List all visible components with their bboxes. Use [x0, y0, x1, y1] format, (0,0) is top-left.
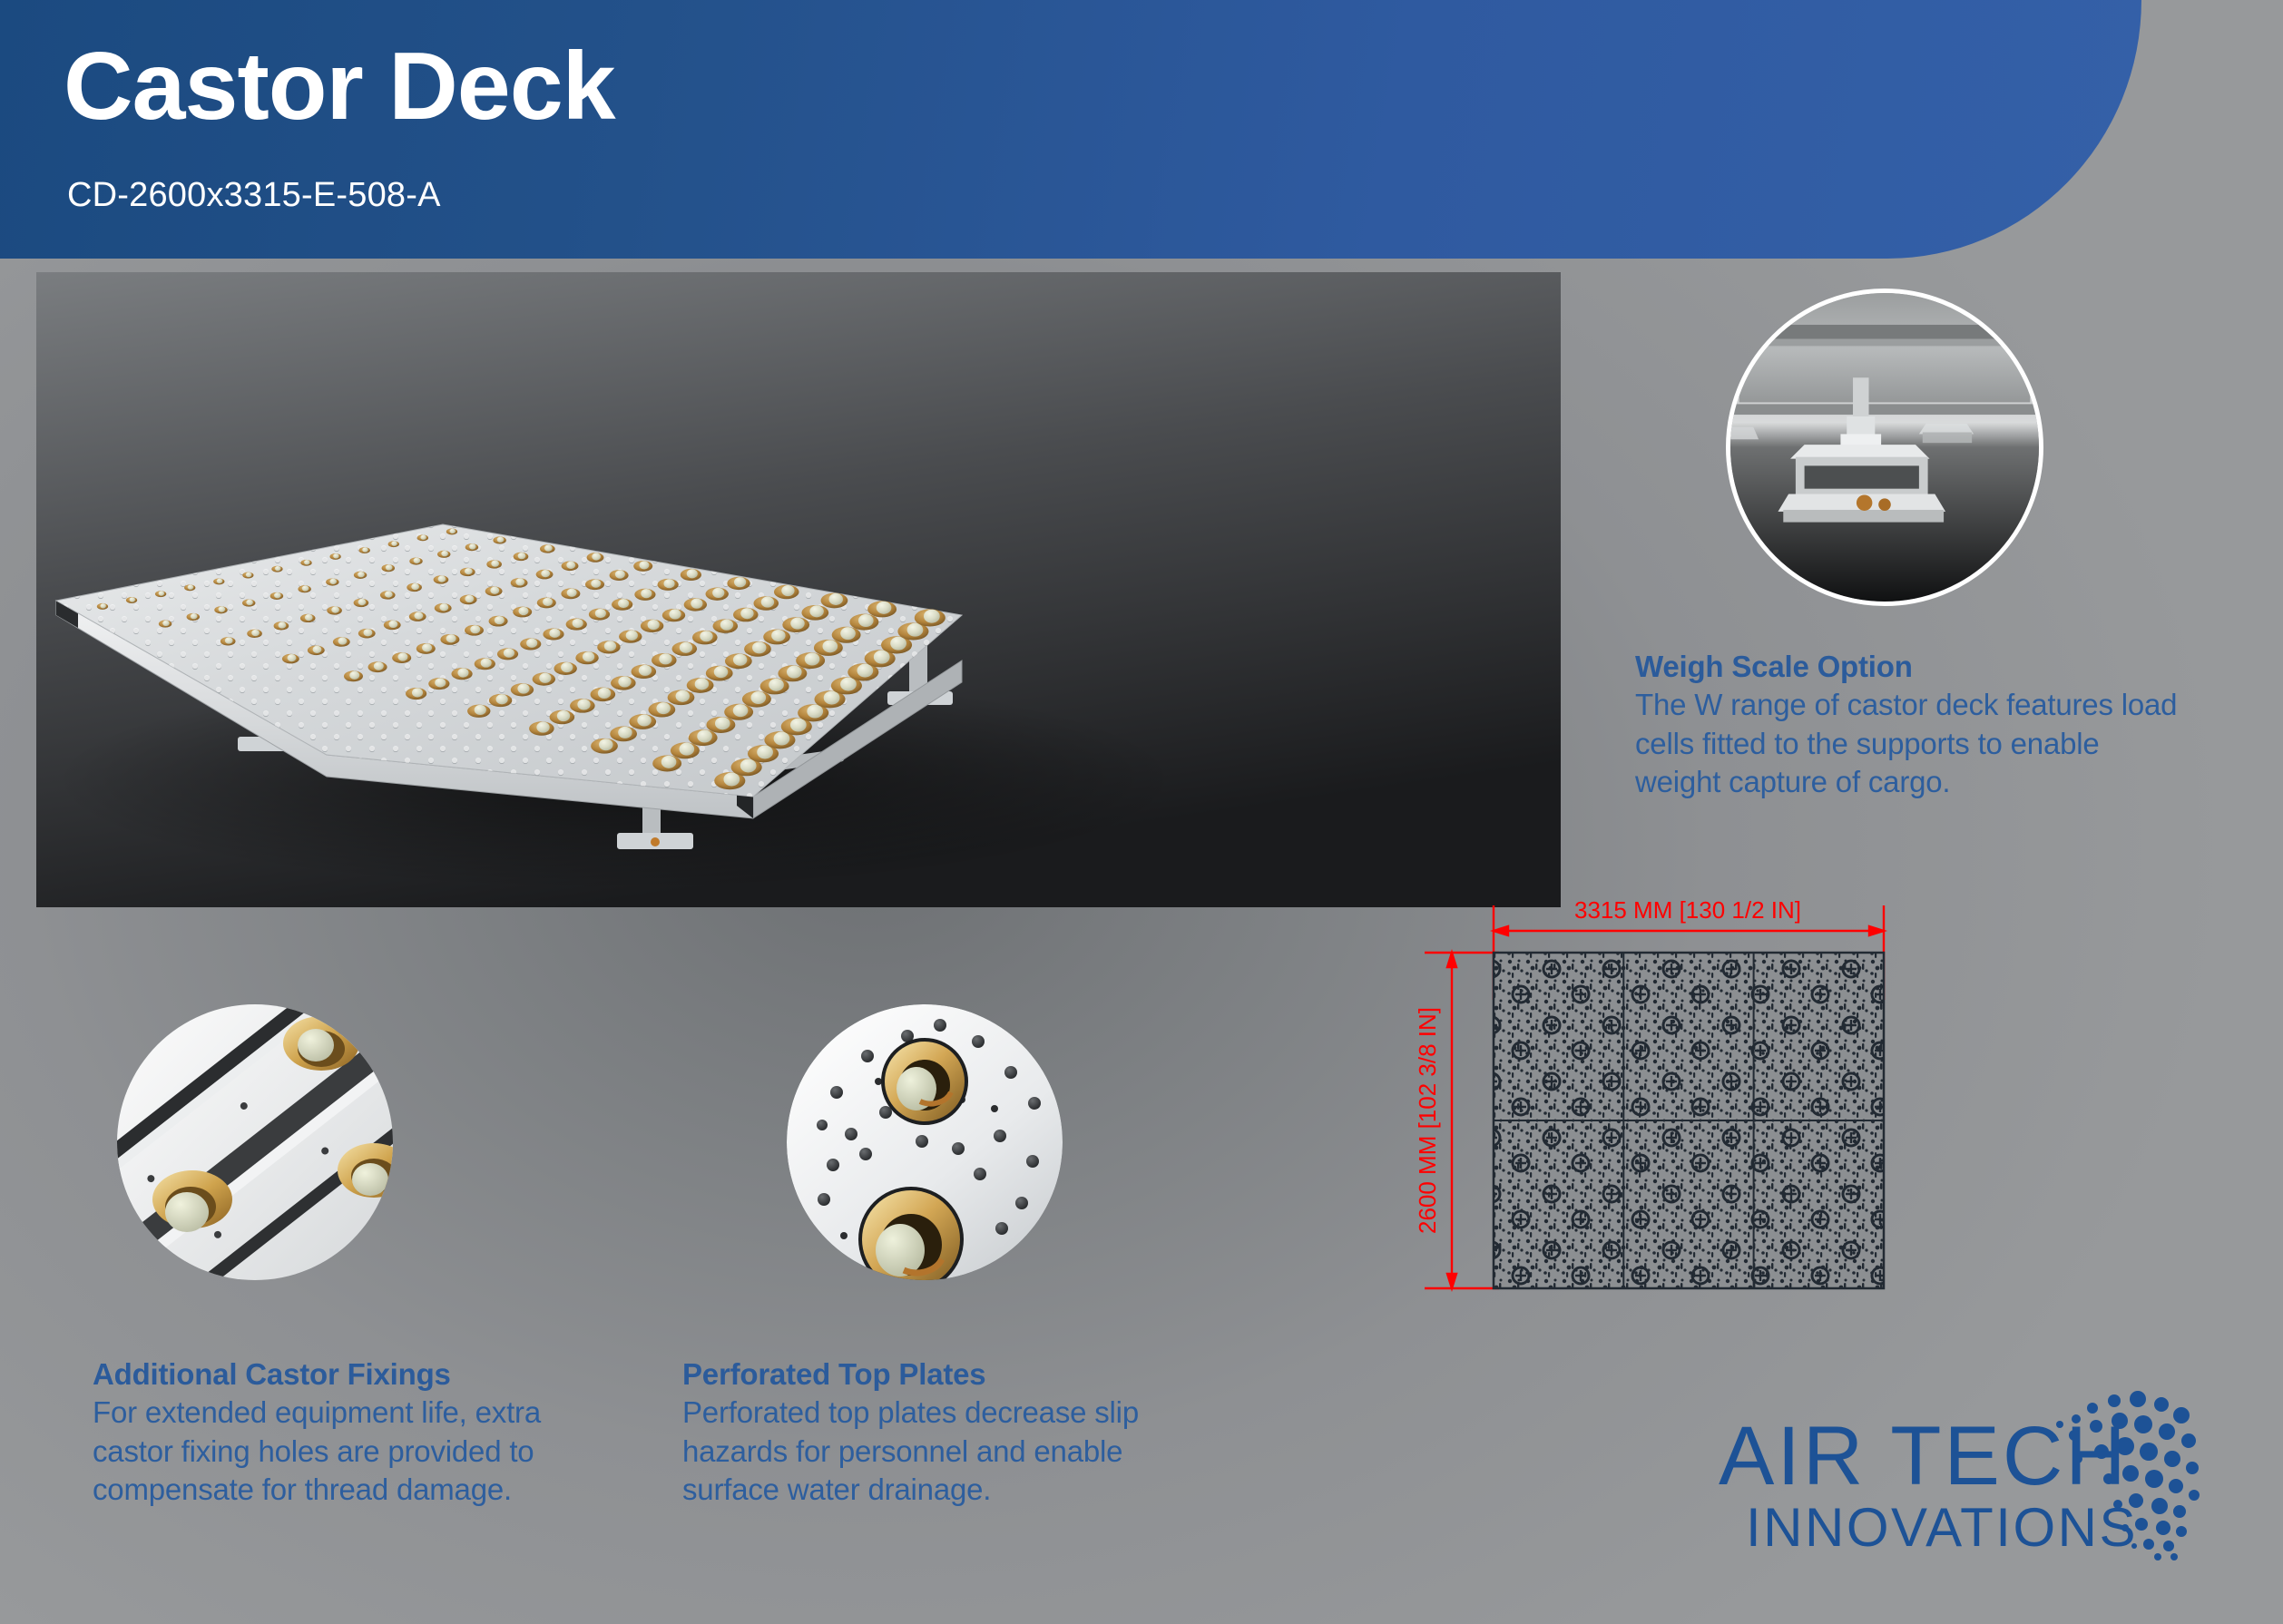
- ball-castor: [460, 595, 477, 605]
- ball-castor: [821, 593, 848, 609]
- ball-castor: [744, 641, 771, 657]
- ball-castor: [329, 553, 340, 560]
- ball-castor: [428, 678, 449, 690]
- ball-castor: [126, 597, 137, 603]
- ball-castor: [159, 621, 171, 628]
- ball-castor: [382, 564, 395, 572]
- ball-castor: [612, 599, 632, 611]
- ball-castor: [451, 668, 472, 680]
- ball-castor: [589, 609, 610, 621]
- ball-castor: [388, 541, 399, 547]
- ball-castor: [184, 584, 195, 591]
- ball-castor: [300, 614, 316, 622]
- ball-castor: [242, 600, 255, 607]
- page-title: Castor Deck: [64, 38, 615, 134]
- ball-castor: [742, 691, 771, 708]
- ball-castor: [513, 607, 532, 618]
- caption-body: Perforated top plates decrease slip haza…: [682, 1394, 1154, 1509]
- ball-castor: [733, 608, 759, 622]
- ball-castor: [778, 665, 807, 681]
- ball-castor: [489, 694, 512, 707]
- ball-castor: [575, 651, 598, 664]
- ball-castor: [489, 616, 508, 627]
- width-dimension-label: 3315 MM [130 1/2 IN]: [1574, 896, 1801, 924]
- ball-castor: [585, 579, 604, 590]
- ball-castor: [358, 629, 376, 639]
- ball-castor: [706, 666, 733, 681]
- ball-castor: [270, 592, 283, 600]
- castor-ball: [881, 1038, 968, 1125]
- ball-castor: [629, 714, 656, 729]
- ball-castor: [465, 543, 478, 551]
- ball-castor: [214, 606, 227, 613]
- ball-castor: [407, 583, 422, 592]
- ball-castor: [727, 577, 750, 590]
- ball-castor: [493, 536, 505, 543]
- ball-castor: [782, 617, 809, 632]
- ball-castor: [763, 630, 790, 645]
- logo-wordmark-primary: AIR TECH: [1719, 1410, 2129, 1502]
- caption-title: Perforated Top Plates: [682, 1357, 1154, 1392]
- ball-castor: [849, 614, 878, 631]
- ball-castor: [344, 670, 363, 681]
- ball-castor: [514, 553, 529, 561]
- ball-castor: [611, 676, 636, 690]
- ball-castor: [417, 534, 428, 541]
- ball-castor: [326, 578, 338, 585]
- ball-castor: [658, 579, 679, 591]
- product-hero-image: [36, 272, 1561, 907]
- ball-castor: [652, 653, 677, 668]
- ball-castor: [213, 578, 224, 584]
- ball-castor: [687, 678, 714, 693]
- ball-castor: [591, 688, 616, 702]
- ball-castor: [689, 729, 718, 746]
- ball-castor: [446, 529, 457, 535]
- ball-castor: [570, 699, 595, 713]
- ball-castor: [672, 641, 698, 656]
- ball-castor: [409, 611, 426, 621]
- ball-castor: [406, 688, 426, 699]
- ball-castor: [354, 599, 369, 607]
- ball-castor: [486, 560, 502, 568]
- ball-castor: [561, 588, 580, 599]
- ball-castor: [460, 568, 475, 576]
- ball-castor: [668, 690, 695, 705]
- ball-castor: [641, 620, 663, 632]
- ball-castor: [354, 572, 367, 579]
- ball-castor: [497, 648, 518, 660]
- company-logo: AIR TECH INNOVATIONS: [1715, 1368, 2232, 1595]
- ball-castor: [416, 643, 436, 654]
- ball-castor: [832, 627, 861, 643]
- ball-castor: [384, 621, 401, 631]
- ball-castor: [271, 566, 282, 572]
- ball-castor: [536, 570, 554, 580]
- ball-castor: [485, 586, 503, 596]
- ball-castor: [529, 721, 554, 736]
- ball-castor: [915, 609, 946, 626]
- ball-castor: [634, 589, 655, 601]
- ball-castor: [724, 704, 753, 720]
- caption-title: Additional Castor Fixings: [93, 1357, 601, 1392]
- ball-castor: [437, 551, 450, 558]
- ball-castor: [671, 742, 700, 758]
- ball-castor: [97, 603, 108, 610]
- ball-castor: [409, 557, 422, 564]
- ball-castor: [242, 572, 253, 579]
- ball-castor: [550, 710, 575, 725]
- ball-castor: [867, 601, 897, 617]
- ball-castor: [587, 553, 604, 563]
- castor-ball: [283, 1016, 359, 1071]
- ball-castor: [706, 717, 735, 733]
- ball-castor: [434, 575, 449, 583]
- ball-castor: [467, 705, 490, 718]
- ball-castor: [597, 641, 620, 653]
- ball-castor: [725, 653, 752, 669]
- ball-castor: [540, 544, 555, 553]
- ball-castor: [814, 640, 843, 656]
- ball-castor: [282, 654, 299, 664]
- ball-castor: [633, 561, 652, 572]
- ball-castor: [610, 727, 637, 742]
- ball-castor: [274, 621, 289, 630]
- ball-castor: [801, 605, 828, 621]
- ball-castor: [753, 596, 779, 611]
- part-number: CD-2600x3315-E-508-A: [67, 176, 441, 215]
- ball-castor: [300, 560, 311, 566]
- caption-body: For extended equipment life, extra casto…: [93, 1394, 601, 1509]
- ball-castor: [543, 628, 563, 640]
- ball-castor: [435, 603, 452, 613]
- ball-castor: [392, 652, 411, 663]
- ball-castor: [475, 658, 495, 670]
- castor-fixings-inset: [114, 1002, 396, 1283]
- ball-castor: [511, 683, 534, 696]
- ball-castor: [368, 661, 387, 672]
- ball-castor: [520, 638, 541, 650]
- ball-castor: [327, 606, 342, 614]
- ball-castor: [308, 645, 325, 655]
- plan-view-drawing: 3315 MM [130 1/2 IN] 2600 MM [102 3/8 IN…: [1416, 898, 2051, 1370]
- ball-castor: [298, 585, 310, 592]
- ball-castor: [713, 619, 739, 633]
- ball-castor: [796, 652, 825, 669]
- ball-castor: [562, 561, 579, 571]
- ball-castor: [533, 672, 555, 685]
- logo-wordmark-secondary: INNOVATIONS: [1746, 1497, 2138, 1558]
- ball-castor: [760, 678, 789, 694]
- ball-castor: [619, 630, 642, 642]
- caption-weigh-scale-option: Weigh Scale Option The W range of castor…: [1635, 650, 2180, 801]
- ball-castor: [511, 578, 528, 588]
- ball-castor: [662, 609, 685, 621]
- ball-castor: [187, 613, 200, 621]
- ball-castor: [247, 630, 262, 638]
- ball-castor: [610, 570, 629, 581]
- ball-castor: [359, 547, 370, 553]
- perforated-plates-inset: [784, 1002, 1065, 1283]
- caption-additional-castor-fixings: Additional Castor Fixings For extended e…: [93, 1357, 601, 1509]
- caption-body: The W range of castor deck features load…: [1635, 686, 2180, 801]
- weigh-scale-inset: [1726, 289, 2043, 606]
- ball-castor: [684, 598, 707, 611]
- ball-castor: [440, 634, 459, 645]
- ball-castor: [774, 585, 799, 600]
- page-header: Castor Deck CD-2600x3315-E-508-A: [0, 0, 2141, 259]
- ball-castor: [632, 665, 657, 680]
- caption-title: Weigh Scale Option: [1635, 650, 2180, 684]
- ball-castor: [554, 662, 576, 675]
- ball-castor: [652, 755, 681, 771]
- ball-castor: [566, 619, 587, 631]
- caption-perforated-top-plates: Perforated Top Plates Perforated top pla…: [682, 1357, 1154, 1509]
- ball-castor: [380, 591, 396, 599]
- ball-castor: [333, 637, 350, 647]
- ball-castor: [692, 631, 718, 645]
- ball-castor: [591, 739, 618, 754]
- ball-castor: [648, 702, 675, 718]
- deck-plan-view: [1494, 953, 1884, 1288]
- ball-castor: [155, 591, 166, 597]
- ball-castor: [681, 569, 701, 581]
- height-dimension-label: 2600 MM [102 3/8 IN]: [1414, 1007, 1441, 1234]
- ball-castor: [537, 598, 556, 609]
- ball-castor: [465, 625, 484, 636]
- ball-castor: [220, 637, 236, 645]
- ball-castor: [706, 588, 729, 601]
